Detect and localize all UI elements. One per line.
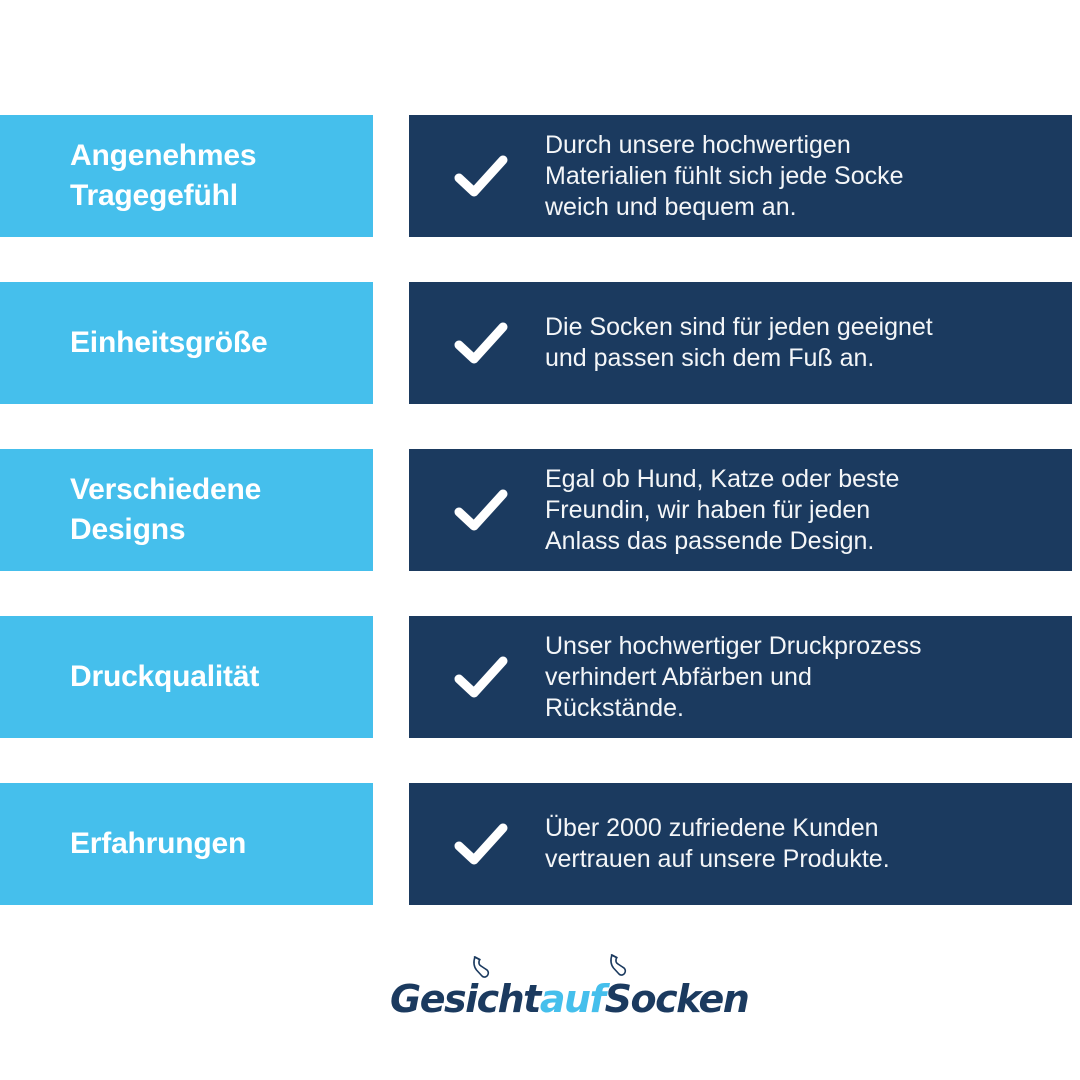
feature-row: Einheitsgröße Die Socken sind für jeden …: [0, 282, 1080, 404]
brand-logo: GesichtaufSocken: [0, 952, 1080, 1048]
feature-description: Egal ob Hund, Katze oder beste Freundin,…: [545, 464, 929, 557]
feature-title: Erfahrungen: [0, 824, 258, 864]
feature-description-block: Die Socken sind für jeden geeignet und p…: [409, 282, 1072, 404]
feature-title: Druckqualität: [0, 657, 271, 697]
feature-description-block: Über 2000 zufriedene Kunden vertrauen au…: [409, 783, 1072, 905]
logo-text-gesicht: Gesicht: [390, 977, 540, 1021]
feature-title-block: Einheitsgröße: [0, 282, 373, 404]
feature-row: Verschiedene Designs Egal ob Hund, Katze…: [0, 449, 1080, 571]
check-icon: [453, 822, 509, 866]
feature-description: Die Socken sind für jeden geeignet und p…: [545, 312, 963, 374]
feature-title: Angenehmes Tragegefühl: [0, 136, 268, 215]
logo-wordmark: GesichtaufSocken: [390, 977, 690, 1021]
logo-text-socken: Socken: [605, 977, 749, 1021]
feature-row: Erfahrungen Über 2000 zufriedene Kunden …: [0, 783, 1080, 905]
feature-description-block: Unser hochwertiger Druckprozess verhinde…: [409, 616, 1072, 738]
feature-row: Druckqualität Unser hochwertiger Druckpr…: [0, 616, 1080, 738]
benefits-sheet: Angenehmes Tragegefühl Durch unsere hoch…: [0, 0, 1080, 1080]
feature-row: Angenehmes Tragegefühl Durch unsere hoch…: [0, 115, 1080, 237]
check-icon: [453, 488, 509, 532]
check-icon: [453, 321, 509, 365]
feature-title-block: Verschiedene Designs: [0, 449, 373, 571]
feature-description: Durch unsere hochwertigen Materialien fü…: [545, 130, 934, 223]
logo-lockup: GesichtaufSocken: [390, 955, 690, 1045]
feature-description-block: Egal ob Hund, Katze oder beste Freundin,…: [409, 449, 1072, 571]
feature-title-block: Druckqualität: [0, 616, 373, 738]
logo-text-auf: auf: [540, 977, 605, 1021]
feature-title: Einheitsgröße: [0, 323, 279, 363]
feature-description: Unser hochwertiger Druckprozess verhinde…: [545, 631, 952, 724]
feature-description-block: Durch unsere hochwertigen Materialien fü…: [409, 115, 1072, 237]
feature-title-block: Angenehmes Tragegefühl: [0, 115, 373, 237]
check-icon: [453, 655, 509, 699]
feature-title: Verschiedene Designs: [0, 470, 273, 549]
check-icon: [453, 154, 509, 198]
feature-description: Über 2000 zufriedene Kunden vertrauen au…: [545, 813, 920, 875]
feature-title-block: Erfahrungen: [0, 783, 373, 905]
